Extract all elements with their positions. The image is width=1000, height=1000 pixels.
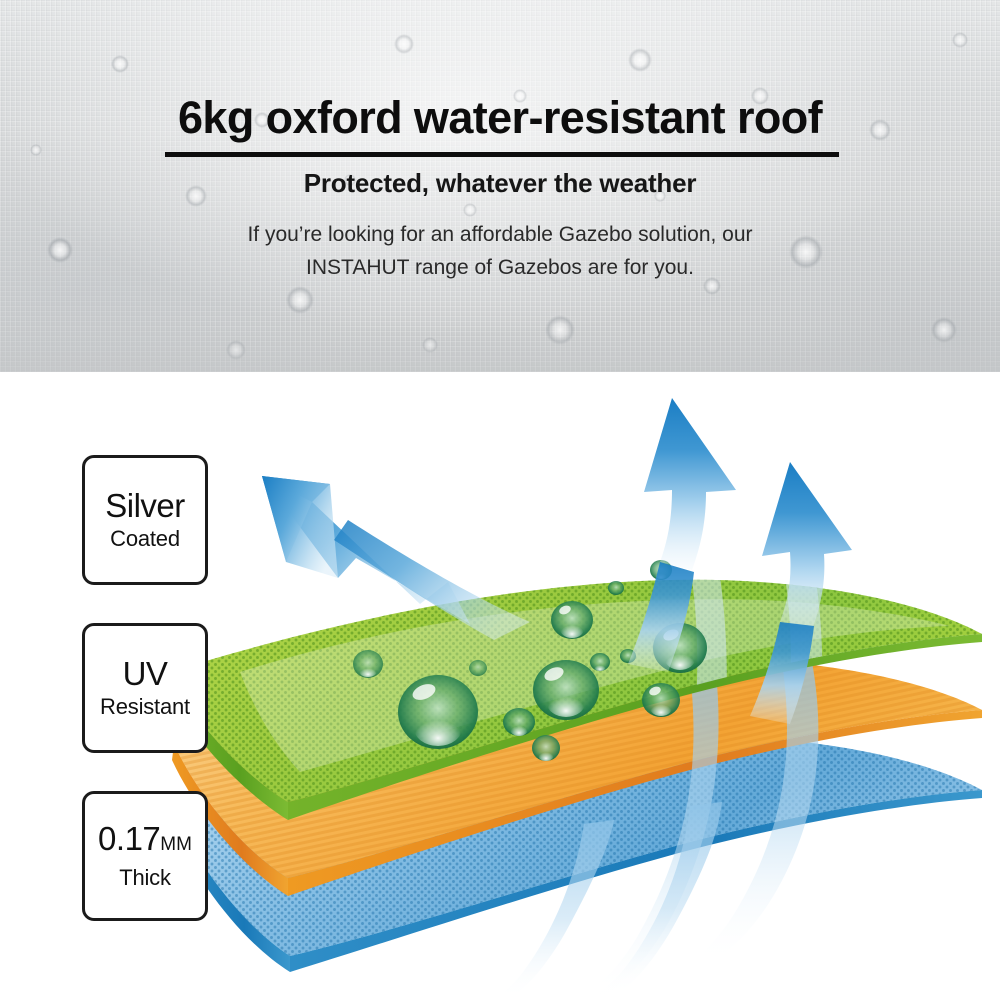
page-title: 6kg oxford water-resistant roof	[0, 92, 1000, 144]
header-text-block: 6kg oxford water-resistant roof Protecte…	[0, 0, 1000, 372]
feature-badge-silver-coated: Silver Coated	[82, 455, 208, 585]
water-droplet	[398, 675, 478, 749]
product-feature-banner: 6kg oxford water-resistant roof Protecte…	[0, 0, 1000, 1000]
water-droplet	[590, 653, 610, 671]
feature-badge-secondary-label: Resistant	[100, 694, 190, 720]
body-copy-line-1: If you’re looking for an affordable Gaze…	[0, 218, 1000, 251]
feature-badge-primary-label: UV	[123, 656, 168, 692]
page-subtitle: Protected, whatever the weather	[0, 168, 1000, 199]
water-droplet	[533, 660, 599, 720]
thickness-value: 0.17	[98, 820, 160, 857]
water-droplet	[551, 601, 593, 639]
water-droplet	[469, 660, 487, 676]
water-droplet	[608, 581, 624, 595]
title-divider-rule	[165, 152, 839, 157]
body-copy: If you’re looking for an affordable Gaze…	[0, 218, 1000, 284]
water-droplet	[353, 650, 383, 678]
water-droplet	[532, 735, 560, 761]
thickness-unit: MM	[160, 834, 192, 855]
feature-badge-primary-label: Silver	[105, 488, 185, 524]
feature-badge-primary-label: 0.17MM	[98, 821, 192, 863]
feature-badge-secondary-label: Thick	[119, 865, 171, 891]
header-banner: 6kg oxford water-resistant roof Protecte…	[0, 0, 1000, 372]
body-copy-line-2: INSTAHUT range of Gazebos are for you.	[0, 251, 1000, 284]
feature-badge-thickness: 0.17MM Thick	[82, 791, 208, 921]
feature-badge-uv-resistant: UV Resistant	[82, 623, 208, 753]
feature-badge-secondary-label: Coated	[110, 526, 180, 552]
water-droplet	[503, 708, 535, 736]
water-droplet	[642, 683, 680, 717]
